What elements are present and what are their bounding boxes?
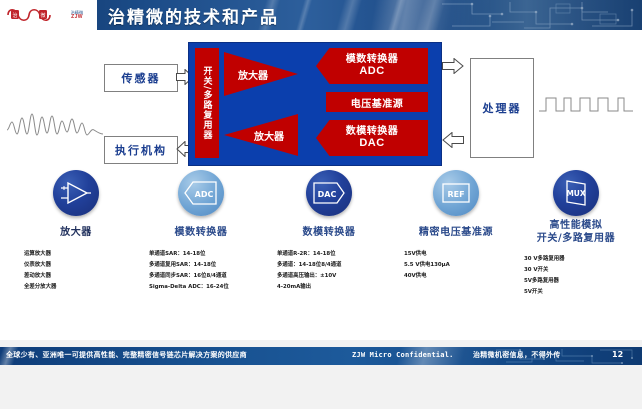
svg-text:微: 微 xyxy=(40,12,45,19)
slide-bottom-margin xyxy=(0,365,642,409)
voltage-reference-icon: REF xyxy=(433,170,479,216)
footer-notice: 治精微机密信息，不得外传 xyxy=(473,350,561,360)
header-stripe-3 xyxy=(336,0,363,30)
header-stripe-4 xyxy=(388,0,407,30)
detail-item: 单通道R-2R：14-18位 xyxy=(277,249,393,260)
amplifier-top-label: 放大器 xyxy=(238,67,268,82)
processor-box: 处理器 xyxy=(470,58,534,158)
adc-block: 模数转换器 ADC xyxy=(316,48,428,84)
detail-item: 多通道：14-18位8/4通道 xyxy=(277,260,393,271)
dac-label-en: DAC xyxy=(359,137,384,150)
product-column-amplifier: 放大器 运算放大器 仪表放大器 差动放大器 全差分放大器 xyxy=(12,170,140,293)
footer-tagline: 全球少有、亚洲唯一可提供高性能、完整精密信号链芯片解决方案的供应商 xyxy=(6,350,247,360)
amplifier-bottom-label: 放大器 xyxy=(254,128,284,143)
actuator-label: 执行机构 xyxy=(115,142,167,158)
detail-item: 30 V开关 xyxy=(524,265,640,276)
product-details-mux: 30 V多路复用器 30 V开关 5V多路复用器 5V开关 xyxy=(512,254,640,298)
arrow-right-icon-processor xyxy=(442,58,464,74)
product-category-label-mux: 高性能模拟 开关/多路复用器 xyxy=(512,220,640,245)
product-details-amplifier: 运算放大器 仪表放大器 差动放大器 全差分放大器 xyxy=(12,249,140,293)
svg-text:REF: REF xyxy=(447,190,464,199)
waveform-logo-icon: 治 微 xyxy=(6,6,52,24)
product-category-label-dac: 数模转换器 xyxy=(265,227,393,240)
detail-item: 5V多路复用器 xyxy=(524,276,640,287)
svg-text:ADC: ADC xyxy=(195,190,214,199)
processor-label: 处理器 xyxy=(483,100,522,116)
detail-item: 40V供电 xyxy=(404,271,520,282)
detail-item: 4-20mA输出 xyxy=(277,282,393,293)
detail-item: 多通道高压输出：±10V xyxy=(277,271,393,282)
detail-item: 全差分放大器 xyxy=(24,282,140,293)
logo-wordmark: 治精微 ZJW xyxy=(57,0,97,30)
detail-item: 多通道同步SAR：16位8/4通道 xyxy=(149,271,265,282)
adc-label-en: ADC xyxy=(359,65,384,78)
detail-item: 5V开关 xyxy=(524,287,640,298)
digital-pulse-icon xyxy=(538,92,634,116)
detail-item: 多通道复用SAR：14-18位 xyxy=(149,260,265,271)
detail-item: 15V供电 xyxy=(404,249,520,260)
header-stripe-2 xyxy=(296,0,313,30)
detail-item: 运算放大器 xyxy=(24,249,140,260)
actuator-box: 执行机构 xyxy=(104,136,178,164)
product-column-dac: DAC 数模转换器 单通道R-2R：14-18位 多通道：14-18位8/4通道… xyxy=(265,170,393,293)
slide-header: 治 微 治精微 ZJW 治精微的技术和产品 xyxy=(0,0,642,30)
mux-category-line-2: 开关/多路复用器 xyxy=(512,233,640,246)
detail-item: 差动放大器 xyxy=(24,271,140,282)
company-logo: 治 微 xyxy=(0,0,59,30)
dac-icon: DAC xyxy=(306,170,352,216)
analog-waveform-icon xyxy=(6,108,104,140)
mux-block-label: 开关/多路复用器 xyxy=(195,48,219,158)
footer-confidential: ZJW Micro Confidential. xyxy=(352,351,454,359)
product-column-reference: REF 精密电压基准源 15V供电 5.5 V供电130μA 40V供电 xyxy=(392,170,520,282)
slide: 治 微 治精微 ZJW 治精微的技术和产品 传感器 执行机构 xyxy=(0,0,642,409)
mux-category-line-1: 高性能模拟 xyxy=(512,220,640,233)
voltage-reference-block: 电压基准源 xyxy=(326,92,428,112)
slide-body: 传感器 执行机构 开关/多路复用器 放大器 放大器 模数转换器 ADC xyxy=(0,30,642,340)
mux-icon: MUX xyxy=(553,170,599,216)
voltage-reference-label: 电压基准源 xyxy=(351,95,404,110)
logo-company-en: ZJW xyxy=(71,15,83,20)
product-column-adc: ADC 模数转换器 单通道SAR：14-18位 多通道复用SAR：14-18位 … xyxy=(137,170,265,293)
detail-item: Sigma-Delta ADC：16-24位 xyxy=(149,282,265,293)
svg-text:DAC: DAC xyxy=(318,190,337,199)
dac-label-cn: 数模转换器 xyxy=(346,126,399,138)
detail-item: 30 V多路复用器 xyxy=(524,254,640,265)
adc-icon: ADC xyxy=(178,170,224,216)
product-details-adc: 单通道SAR：14-18位 多通道复用SAR：14-18位 多通道同步SAR：1… xyxy=(137,249,265,293)
product-category-label-reference: 精密电压基准源 xyxy=(392,227,520,240)
adc-label-cn: 模数转换器 xyxy=(346,54,399,66)
page-title: 治精微的技术和产品 xyxy=(108,3,279,28)
slide-footer: 全球少有、亚洲唯一可提供高性能、完整精密信号链芯片解决方案的供应商 ZJW Mi… xyxy=(0,347,642,365)
detail-item: 5.5 V供电130μA xyxy=(404,260,520,271)
dac-block: 数模转换器 DAC xyxy=(316,120,428,156)
arrow-left-icon-processor xyxy=(442,132,464,148)
sensor-label: 传感器 xyxy=(122,70,161,86)
product-category-label-amplifier: 放大器 xyxy=(12,227,140,240)
sensor-box: 传感器 xyxy=(104,64,178,92)
mux-switch-block: 开关/多路复用器 xyxy=(195,48,219,158)
product-details-reference: 15V供电 5.5 V供电130μA 40V供电 xyxy=(392,249,520,282)
detail-item: 单通道SAR：14-18位 xyxy=(149,249,265,260)
product-column-mux: MUX 高性能模拟 开关/多路复用器 30 V多路复用器 30 V开关 5V多路… xyxy=(512,170,640,298)
svg-text:治: 治 xyxy=(12,12,17,19)
svg-text:MUX: MUX xyxy=(566,189,586,198)
opamp-triangle-icon xyxy=(53,170,99,216)
product-family-row: 放大器 运算放大器 仪表放大器 差动放大器 全差分放大器 ADC xyxy=(0,170,642,340)
circuit-pattern-icon xyxy=(432,0,642,30)
product-category-label-adc: 模数转换器 xyxy=(137,227,265,240)
slide-page-number: 12 xyxy=(612,350,623,359)
product-details-dac: 单通道R-2R：14-18位 多通道：14-18位8/4通道 多通道高压输出：±… xyxy=(265,249,393,293)
detail-item: 仪表放大器 xyxy=(24,260,140,271)
